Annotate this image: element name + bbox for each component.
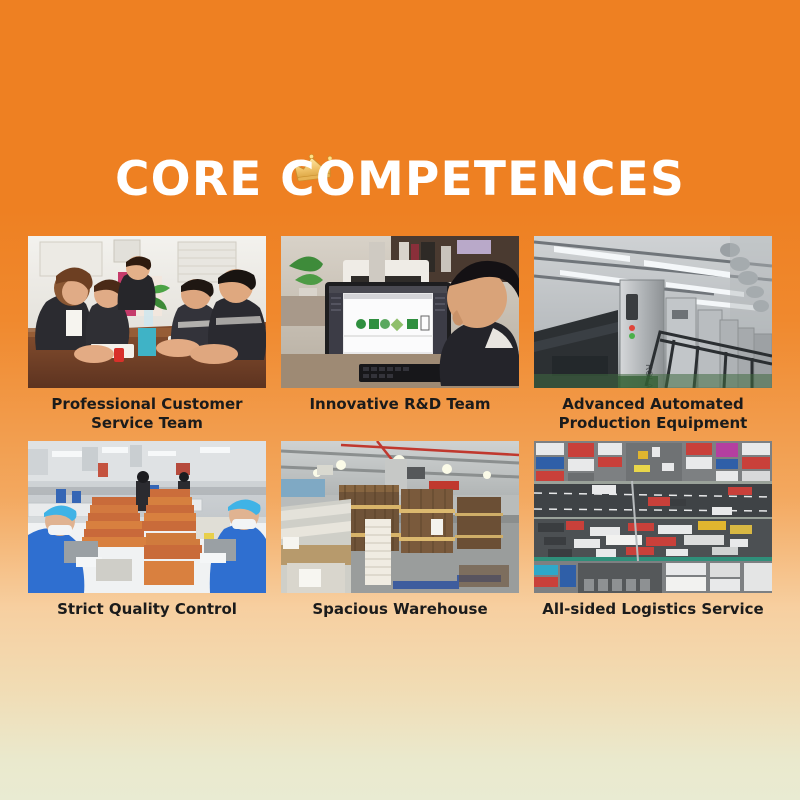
competences-grid: Professional Customer Service Team: [28, 236, 772, 619]
caption-line: Innovative R&D Team: [281, 395, 519, 414]
card-caption: Strict Quality Control: [28, 600, 266, 619]
card-advanced-automated-production-equipment[interactable]: ROLAND 500: [534, 236, 772, 433]
caption-line: All-sided Logistics Service: [534, 600, 772, 619]
card-professional-customer-service-team[interactable]: Professional Customer Service Team: [28, 236, 266, 433]
card-caption: All-sided Logistics Service: [534, 600, 772, 619]
card-strict-quality-control[interactable]: Strict Quality Control: [28, 441, 266, 619]
card-all-sided-logistics-service[interactable]: All-sided Logistics Service: [534, 441, 772, 619]
caption-line: Service Team: [28, 414, 266, 433]
caption-line: Strict Quality Control: [28, 600, 266, 619]
card-caption: Spacious Warehouse: [281, 600, 519, 619]
core-competences-poster: CORE COMPETENCES: [0, 0, 800, 800]
warehouse-photo: [281, 441, 519, 593]
card-caption: Advanced Automated Production Equipment: [534, 395, 772, 433]
meeting-room-photo: [28, 236, 266, 388]
card-caption: Professional Customer Service Team: [28, 395, 266, 433]
designer-at-computer-photo: [281, 236, 519, 388]
logistics-aerial-photo: [534, 441, 772, 593]
title-block: CORE COMPETENCES: [0, 150, 800, 210]
caption-line: Professional Customer: [28, 395, 266, 414]
page-title: CORE COMPETENCES: [115, 150, 685, 210]
printing-press-photo: ROLAND 500: [534, 236, 772, 388]
quality-control-photo: [28, 441, 266, 593]
caption-line: Spacious Warehouse: [281, 600, 519, 619]
caption-line: Advanced Automated: [534, 395, 772, 414]
caption-line: Production Equipment: [534, 414, 772, 433]
card-innovative-rd-team[interactable]: Innovative R&D Team: [281, 236, 519, 433]
card-spacious-warehouse[interactable]: Spacious Warehouse: [281, 441, 519, 619]
card-caption: Innovative R&D Team: [281, 395, 519, 414]
